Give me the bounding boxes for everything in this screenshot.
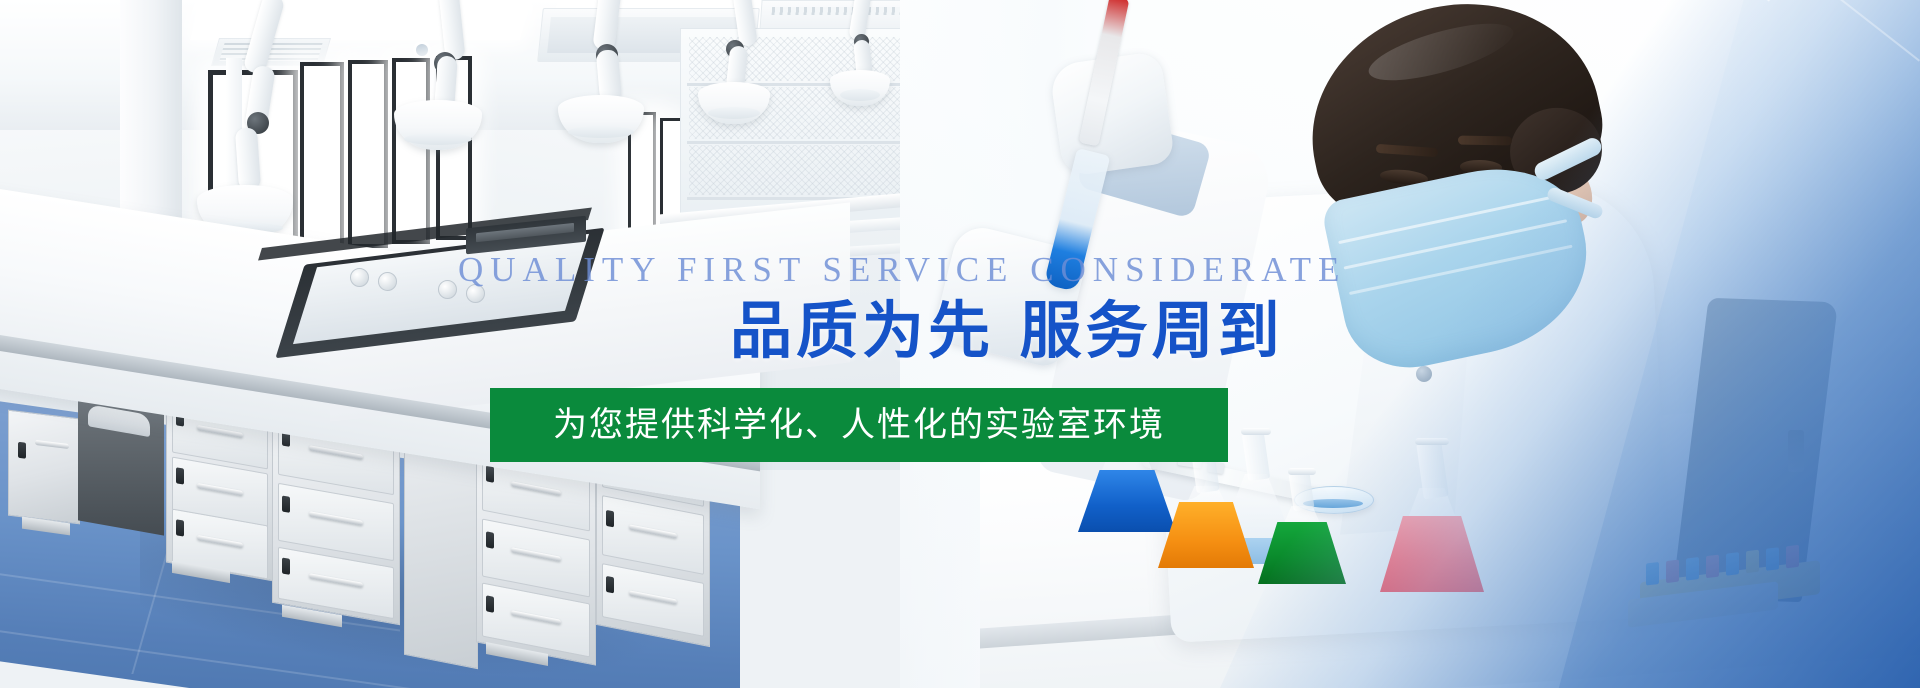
banner-headline: 品质为先 服务周到	[730, 300, 1284, 362]
banner-subtitle: 为您提供科学化、人性化的实验室环境	[553, 408, 1165, 442]
subtitle-bar: 为您提供科学化、人性化的实验室环境	[490, 388, 1228, 462]
banner-text-block: QUALITY FIRST SERVICE CONSIDERATE 品质为先 服…	[0, 0, 1920, 688]
hero-banner: QUALITY FIRST SERVICE CONSIDERATE 品质为先 服…	[0, 0, 1920, 688]
english-tagline: QUALITY FIRST SERVICE CONSIDERATE	[458, 252, 1346, 287]
